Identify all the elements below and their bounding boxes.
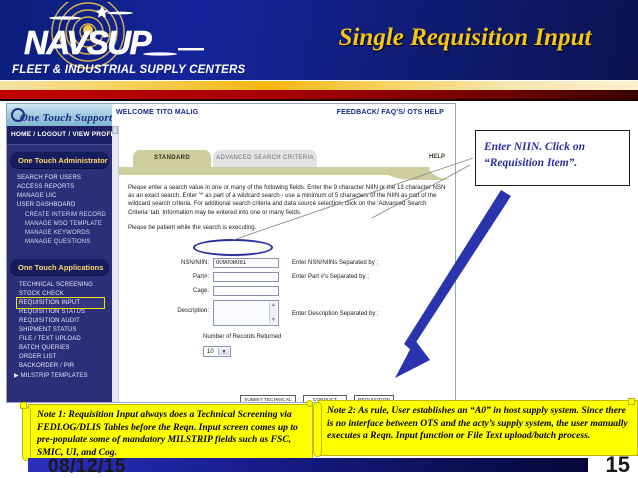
label-number-of-records: Number of Records Returned: [203, 334, 281, 340]
slide-header: NAVSUP FLEET & INDUSTRIAL SUPPLY CENTERS…: [0, 0, 638, 80]
tab-advanced-search-criteria[interactable]: ADVANCED SEARCH CRITERIA: [213, 150, 317, 167]
sidebar-item-batch-queries[interactable]: BATCH QUERIES: [19, 345, 70, 351]
slide-title: Single Requisition Input: [300, 24, 630, 52]
sidebar-item-shipment-status[interactable]: SHIPMENT STATUS: [19, 327, 77, 333]
content-scrollbar[interactable]: [112, 126, 119, 403]
label-part-number: Part#:: [157, 274, 209, 280]
cage-input[interactable]: [213, 286, 279, 296]
sidebar-item-manage-uic[interactable]: MANAGE UIC: [17, 193, 57, 199]
footer-date: 08/12/15: [48, 456, 126, 478]
content-pane: STANDARD ADVANCED SEARCH CRITERIA HELP P…: [119, 126, 456, 403]
scroll-up-arrow-icon[interactable]: ▲: [270, 302, 277, 309]
red-stripe: [0, 90, 638, 99]
sidebar-item-user-dashboard[interactable]: USER DASHBOARD: [17, 202, 75, 208]
sidebar-item-manage-mso-template[interactable]: MANAGE MSO TEMPLATE: [25, 221, 102, 227]
ots-brand-bar: One Touch Support: [7, 104, 113, 126]
submit-technical-screening-button[interactable]: SUBMIT TECHNICAL SCREENING: [240, 395, 296, 403]
note-1-corner-handle: [20, 402, 27, 409]
one-touch-support-app: One Touch Support WELCOME TITO MALIG FEE…: [6, 103, 456, 403]
instructions-paragraph-1: Please enter a search value in one or ma…: [128, 184, 448, 217]
sidebar-item-backorder-pir[interactable]: BACKORDER / PIR: [19, 363, 74, 369]
records-returned-select[interactable]: 10 ▼: [203, 346, 231, 357]
note-2-box: Note 2: As rule, User establishes an “A0…: [318, 400, 638, 456]
gold-stripe: [0, 81, 638, 90]
sidebar-item-milstrip-templates[interactable]: ▶ MILSTRIP TEMPLATES: [14, 372, 88, 379]
sidebar-item-manage-questions[interactable]: MANAGE QUESTIONS: [25, 239, 90, 245]
sidebar-item-file-text-upload[interactable]: FILE / TEXT UPLOAD: [19, 336, 81, 342]
scroll-down-arrow-icon[interactable]: ▼: [270, 317, 277, 324]
note-1-text: Note 1: Requisition Input always does a …: [37, 409, 307, 459]
label-nsn-niin: NSN/NIIN:: [157, 260, 209, 266]
part-number-input[interactable]: [213, 272, 279, 282]
sidebar-item-requisition-audit[interactable]: REQUISITION AUDIT: [19, 318, 80, 324]
welcome-text: WELCOME TITO MALIG: [116, 109, 198, 116]
label-cage: Cage:: [157, 288, 209, 294]
hint-description: Enter Description Separated by ;: [292, 311, 379, 317]
sidebar-item-access-reports[interactable]: ACCESS REPORTS: [17, 184, 74, 190]
note-1-box: Note 1: Requisition Input always does a …: [28, 404, 313, 460]
records-returned-value: 10: [207, 349, 214, 355]
nav-section-applications: One Touch Applications: [10, 259, 109, 275]
welcome-bar: WELCOME TITO MALIG FEEDBACK/ FAQ'S/ OTS …: [112, 104, 456, 127]
sidebar-nav: HOME / LOGOUT / VIEW PROFILE One Touch A…: [7, 126, 112, 403]
one-touch-o-icon: [11, 108, 25, 122]
sidebar-item-order-list[interactable]: ORDER LIST: [19, 354, 57, 360]
note-2-left-pin: [313, 402, 322, 457]
nav-section-administrator-label: One Touch Administrator: [18, 156, 108, 165]
instructions-paragraph-2: Please be patient while the search is ex…: [128, 224, 448, 232]
tab-standard[interactable]: STANDARD: [133, 150, 211, 167]
requisition-input-highlight-box: [16, 297, 105, 309]
nav-home-logout-profile[interactable]: HOME / LOGOUT / VIEW PROFILE: [7, 126, 112, 145]
footer-page-number: 15: [606, 452, 630, 478]
label-description: Description:: [147, 308, 209, 314]
description-textarea[interactable]: ▲ ▼: [213, 300, 279, 326]
org-subtitle: FLEET & INDUSTRIAL SUPPLY CENTERS: [12, 64, 245, 76]
sidebar-item-create-interim-record[interactable]: CREATE INTERIM RECORD: [25, 212, 106, 218]
nsn-niin-input[interactable]: [213, 258, 279, 268]
note-1-left-pin: [22, 406, 31, 461]
dark-stripe: [0, 99, 638, 101]
sidebar-item-requisition-status[interactable]: REQUISITION STATUS: [19, 309, 85, 315]
note-2-text: Note 2: As rule, User establishes an “A0…: [327, 405, 632, 443]
chevron-down-icon[interactable]: ▼: [218, 348, 229, 355]
sidebar-item-technical-screening[interactable]: TECHNICAL SCREENING: [19, 282, 93, 288]
feedback-links[interactable]: FEEDBACK/ FAQ'S/ OTS HELP: [337, 109, 444, 116]
sidebar-item-search-for-users[interactable]: SEARCH FOR USERS: [17, 175, 81, 181]
tab-strip: STANDARD ADVANCED SEARCH CRITERIA HELP: [119, 150, 456, 172]
svg-text:NAVSUP: NAVSUP: [24, 24, 153, 61]
scroll-up-arrow-icon[interactable]: [112, 126, 118, 134]
note-2-corner-handle: [628, 398, 635, 405]
help-link[interactable]: HELP: [429, 154, 445, 160]
note-1-right-handle: [306, 400, 313, 407]
description-scrollbar[interactable]: ▲ ▼: [269, 302, 277, 324]
hint-part-number: Enter Part #'s Separated by ;: [292, 274, 369, 280]
sidebar-item-manage-keywords[interactable]: MANAGE KEYWORDS: [25, 230, 90, 236]
ots-brand-label: One Touch Support: [12, 108, 112, 124]
nav-section-administrator: One Touch Administrator: [10, 152, 109, 168]
hint-nsn-niin: Enter NSN/NIINs Separated by ;: [292, 260, 378, 266]
callout-text: Enter NIIN. Click on “Requisition Item”.: [484, 139, 624, 171]
nav-section-applications-label: One Touch Applications: [18, 263, 103, 272]
callout-box: Enter NIIN. Click on “Requisition Item”.: [475, 130, 630, 186]
instructions-block: Please enter a search value in one or ma…: [128, 184, 448, 239]
nav-home-logout-profile-label: HOME / LOGOUT / VIEW PROFILE: [11, 131, 121, 138]
